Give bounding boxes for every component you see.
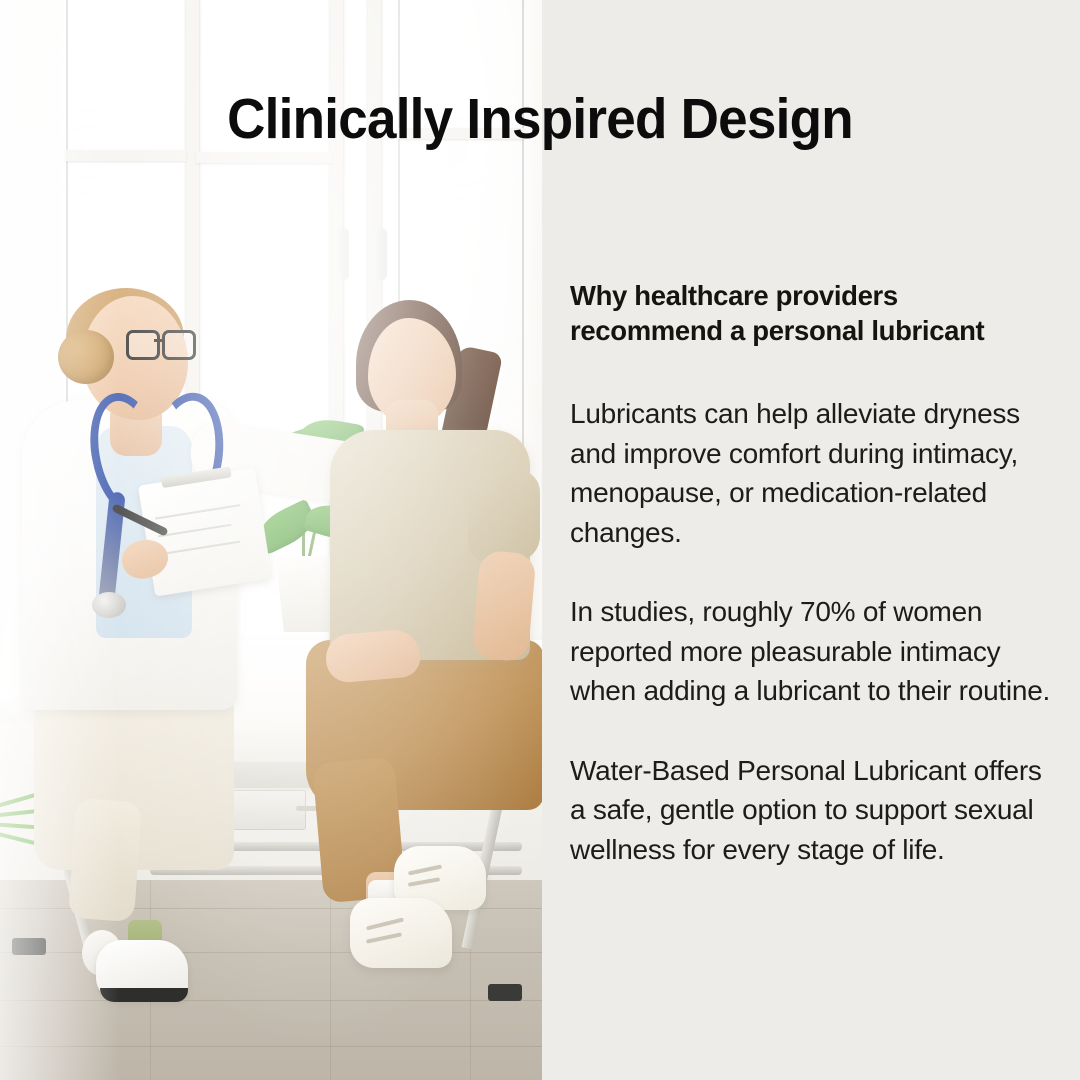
clipboard-paper-line [161, 541, 240, 555]
body-paragraph-1: Lubricants can help alleviate dryness an… [570, 394, 1056, 552]
window-handle [338, 228, 349, 280]
floor-plank-seam [330, 880, 331, 1080]
stethoscope-bell [92, 592, 126, 618]
clinic-consultation-photo [0, 0, 542, 1080]
eyeglasses-icon [126, 330, 192, 356]
body-paragraph-2: In studies, roughly 70% of women reporte… [570, 592, 1056, 711]
glasses-lens-left [126, 330, 160, 360]
clipboard-paper-line [155, 504, 240, 519]
window-mullion-horizontal [196, 152, 332, 163]
doctor-sneaker-sole [100, 988, 188, 1002]
window-handle [376, 228, 387, 280]
product-info-card: Clinically Inspired Design Why healthcar… [0, 0, 1080, 1080]
sneaker-lace [366, 932, 402, 943]
patient-sleeve [468, 470, 540, 562]
patient-clasped-hands [324, 628, 422, 684]
section-subheading: Why healthcare providers recommend a per… [570, 278, 1056, 348]
clipboard-paper-line [158, 524, 231, 538]
page-title: Clinically Inspired Design [38, 86, 1042, 152]
text-column: Why healthcare providers recommend a per… [570, 278, 1056, 869]
glasses-lens-right [162, 330, 196, 360]
exam-table-foot [488, 984, 522, 1001]
sneaker-lace [408, 865, 442, 876]
patient-arm [471, 550, 536, 662]
body-paragraph-3: Water-Based Personal Lubricant offers a … [570, 751, 1056, 870]
doctor-hair-bun [58, 330, 114, 384]
sneaker-lace [366, 917, 404, 930]
floor-plank-line [0, 1046, 542, 1047]
patient-sneaker-front [350, 898, 452, 968]
sneaker-lace [408, 877, 440, 886]
floor-plank-line [0, 1000, 542, 1001]
doctor-lower-leg [68, 798, 142, 922]
exam-table-foot [12, 938, 46, 955]
